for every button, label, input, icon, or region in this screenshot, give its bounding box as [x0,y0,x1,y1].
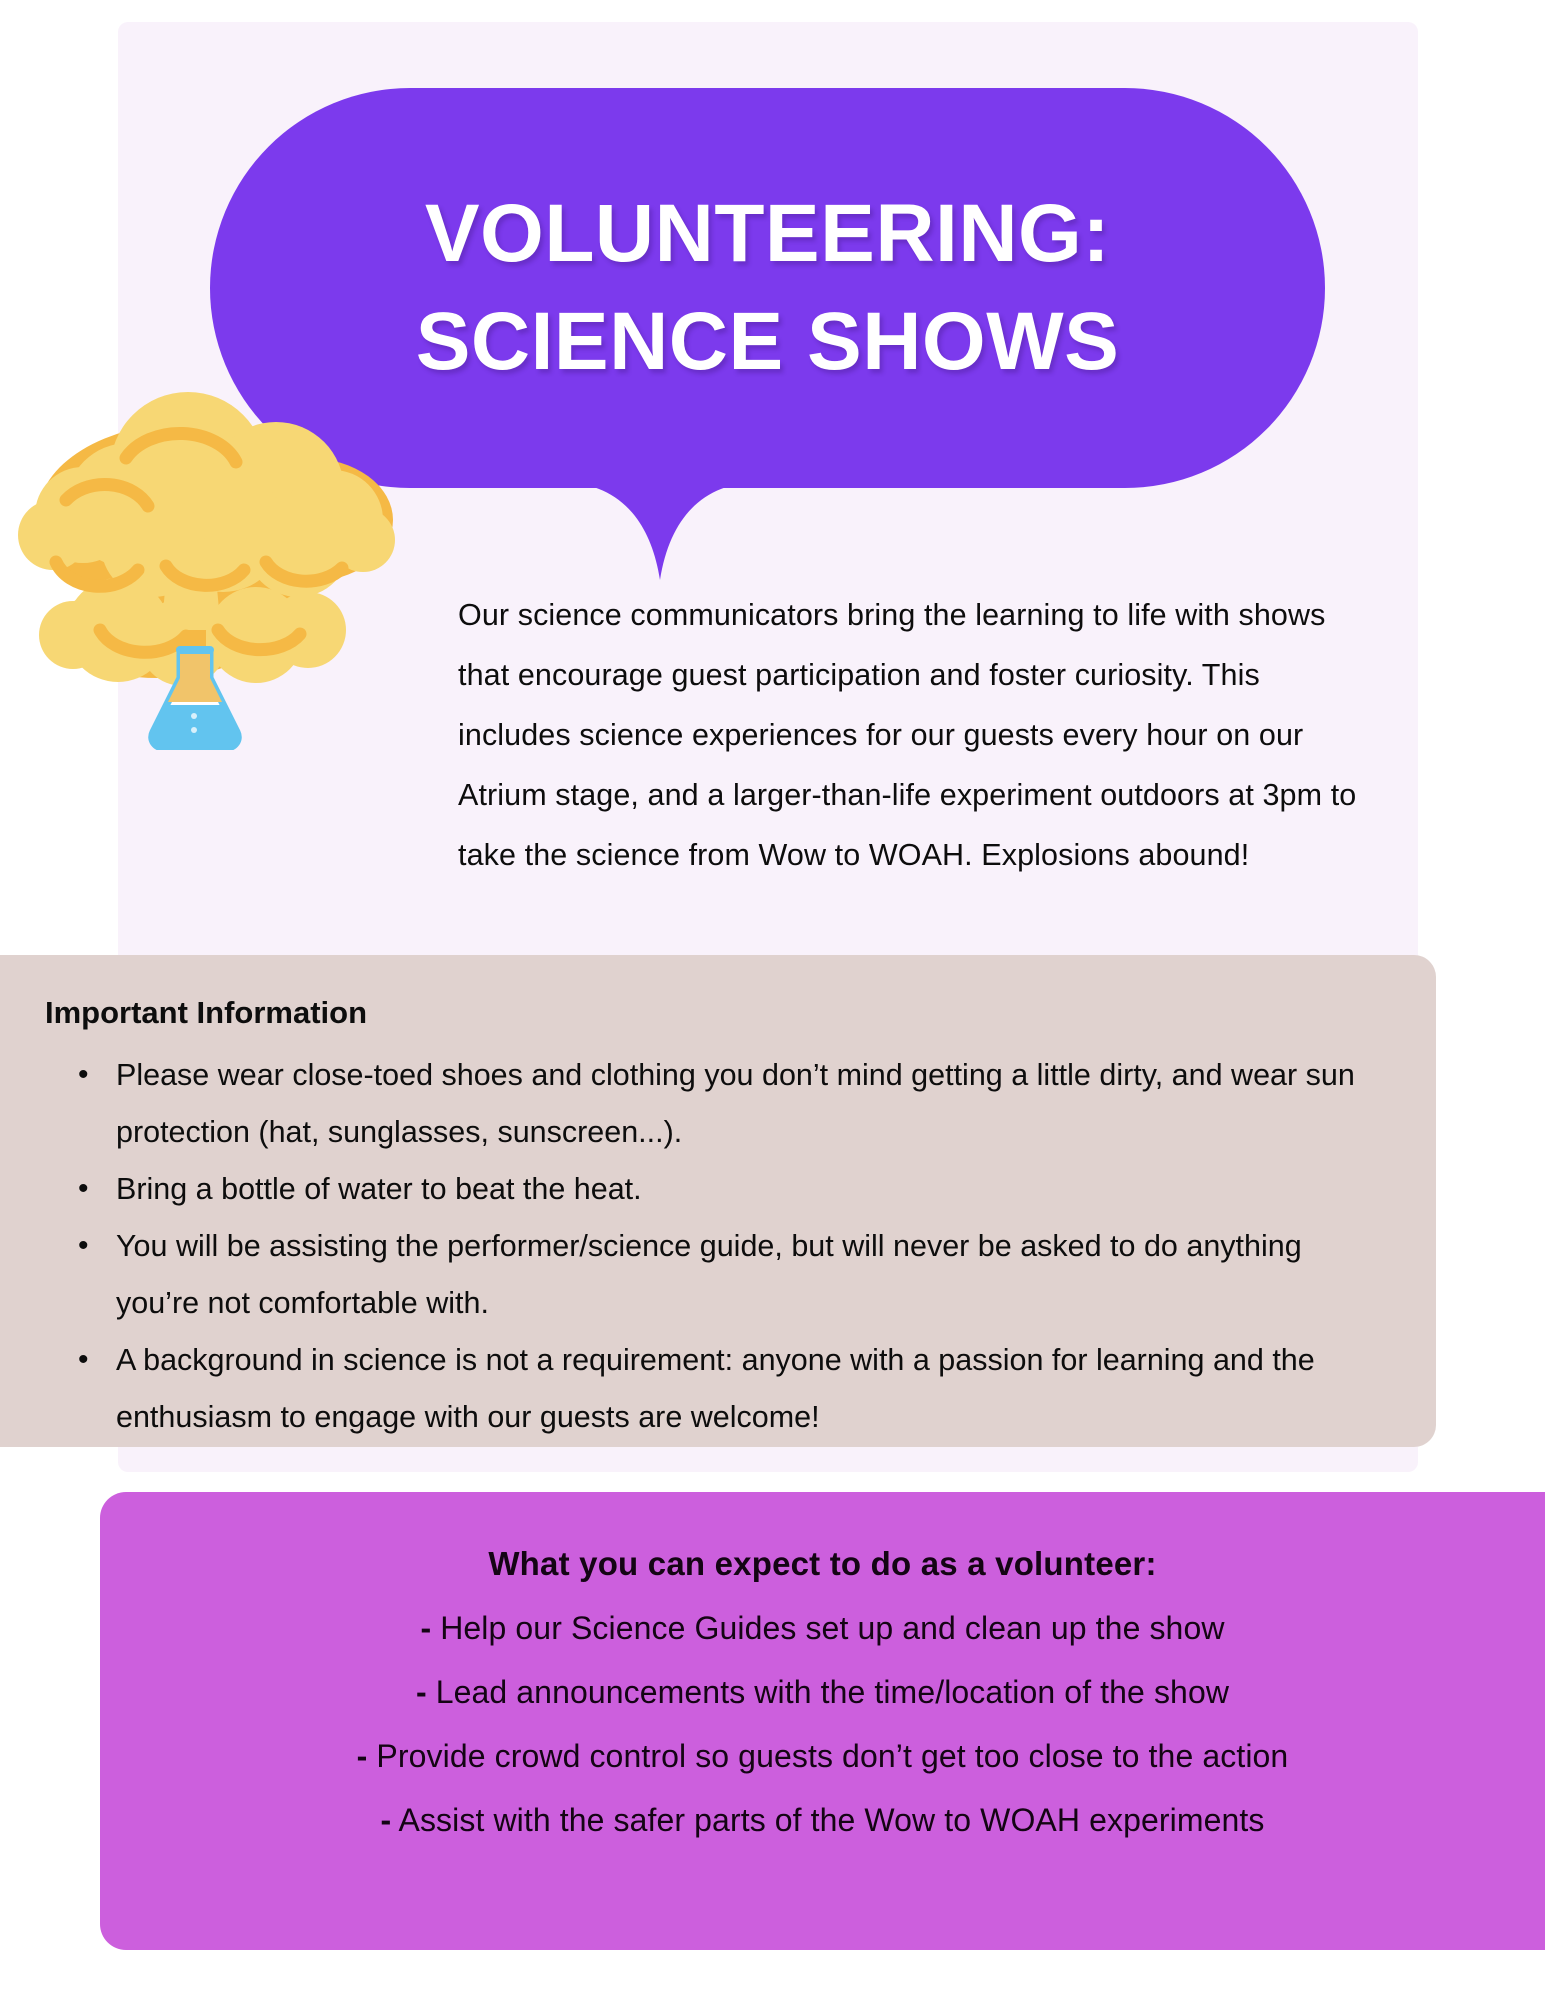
poster-title-line-1: VOLUNTEERING: [266,180,1269,288]
expectation-text: Lead announcements with the time/locatio… [436,1674,1229,1710]
important-information-section: Important Information Please wear close-… [0,955,1436,1447]
expectations-section: What you can expect to do as a volunteer… [100,1492,1545,1950]
expectation-text: Assist with the safer parts of the Wow t… [399,1802,1265,1838]
dash-bullet: - [420,1610,431,1646]
list-item: - Help our Science Guides set up and cle… [128,1596,1517,1660]
list-item: Please wear close-toed shoes and clothin… [72,1047,1357,1161]
list-item: Bring a bottle of water to beat the heat… [72,1161,1357,1218]
important-information-list: Please wear close-toed shoes and clothin… [72,1047,1357,1446]
intro-paragraph: Our science communicators bring the lear… [458,585,1378,885]
dash-bullet: - [381,1802,392,1838]
poster-root: VOLUNTEERING: SCIENCE SHOWS [0,0,1545,2000]
list-item: - Lead announcements with the time/locat… [128,1660,1517,1724]
list-item: You will be assisting the performer/scie… [72,1218,1357,1332]
dash-bullet: - [357,1738,368,1774]
expectations-heading: What you can expect to do as a volunteer… [128,1532,1517,1596]
list-item: A background in science is not a require… [72,1332,1357,1446]
expectation-text: Provide crowd control so guests don’t ge… [376,1738,1288,1774]
dash-bullet: - [416,1674,427,1710]
explosion-flask-icon [8,330,428,750]
important-information-heading: Important Information [45,995,367,1031]
list-item: - Assist with the safer parts of the Wow… [128,1788,1517,1852]
list-item: - Provide crowd control so guests don’t … [128,1724,1517,1788]
mushroom-cloud-svg [8,330,428,750]
expectation-text: Help our Science Guides set up and clean… [440,1610,1224,1646]
